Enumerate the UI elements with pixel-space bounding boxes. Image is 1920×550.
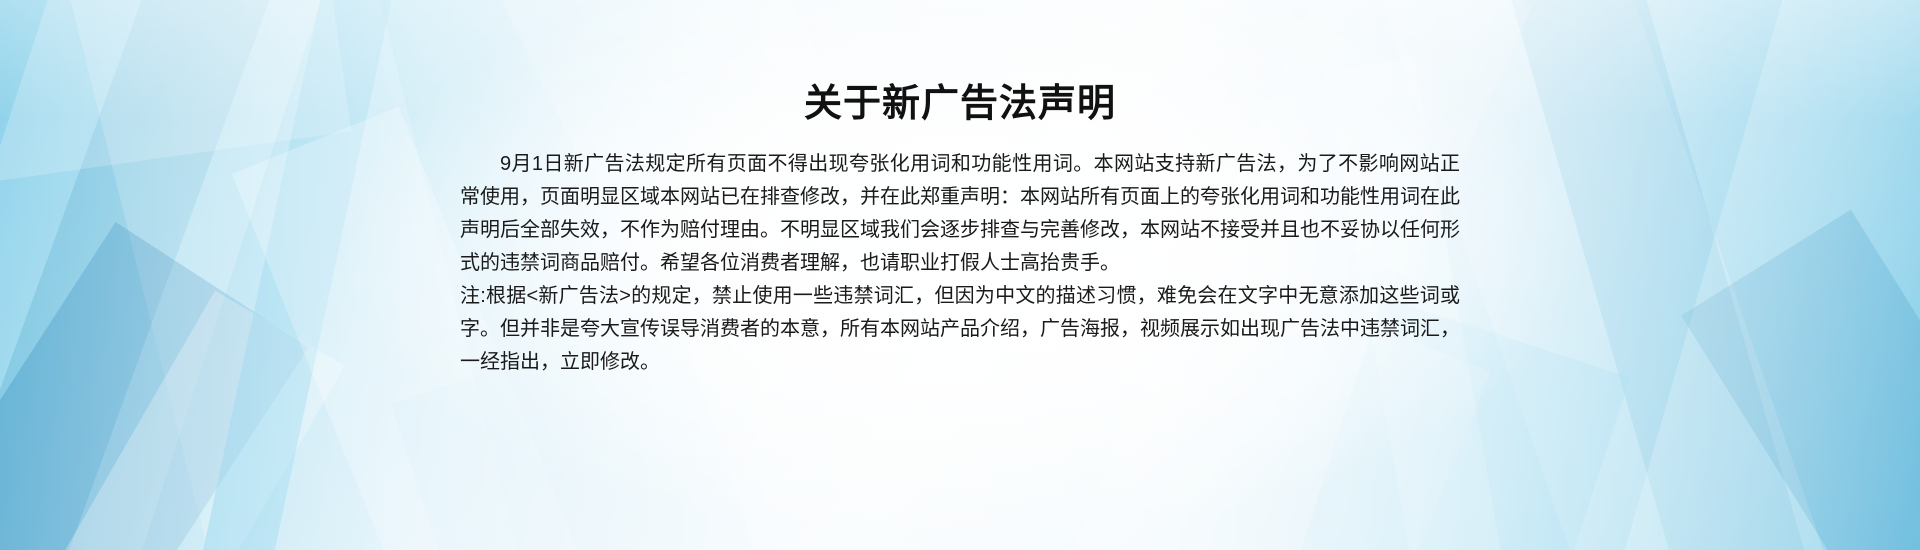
decorative-shard (0, 0, 297, 550)
advertising-law-statement-banner: 关于新广告法声明 9月1日新广告法规定所有页面不得出现夸张化用词和功能性用词。本… (0, 0, 1920, 550)
decorative-shard (0, 222, 309, 550)
notice-paragraph-1: 9月1日新广告法规定所有页面不得出现夸张化用词和功能性用词。本网站支持新广告法，… (460, 148, 1460, 280)
decorative-shard (0, 0, 322, 550)
page-title: 关于新广告法声明 (460, 84, 1460, 126)
notice-content: 关于新广告法声明 9月1日新广告法规定所有页面不得出现夸张化用词和功能性用词。本… (460, 84, 1460, 379)
decorative-shard (0, 0, 351, 187)
decorative-shard (183, 0, 397, 550)
decorative-shard (1681, 210, 1920, 550)
decorative-shard (1604, 0, 1920, 550)
decorative-shard (1492, 0, 1837, 550)
decorative-shard (5, 291, 345, 550)
notice-paragraph-2: 注:根据<新广告法>的规定，禁止使用一些违禁词汇，但因为中文的描述习惯，难免会在… (460, 280, 1460, 379)
